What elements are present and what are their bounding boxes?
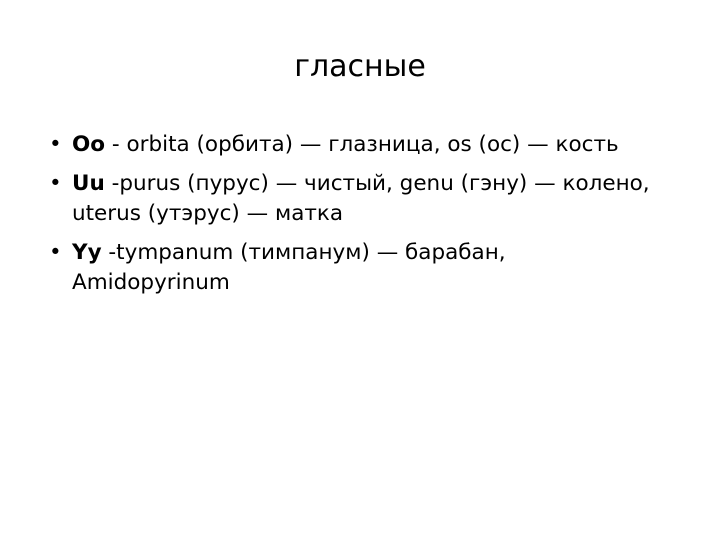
list-item: • Yy -tympanum (тимпанум) — барабан, Ami… <box>42 238 662 298</box>
list-item-lead: Yy <box>72 240 102 265</box>
bullet-icon: • <box>49 238 63 268</box>
bullet-icon: • <box>49 130 63 160</box>
bullet-icon: • <box>49 169 63 199</box>
list-item-lead: Oo <box>72 132 105 157</box>
list-item-text: - orbita (орбита) — глазница, os (ос) — … <box>105 132 619 157</box>
list-item-lead: Uu <box>72 171 105 196</box>
list-item: • Uu -purus (пурус) — чистый, genu (гэну… <box>42 169 662 229</box>
list-item-text: -tympanum (тимпанум) — барабан, Amidopyr… <box>72 240 506 295</box>
page-title: гласные <box>0 49 720 85</box>
vowel-list: • Oo - orbita (орбита) — глазница, os (о… <box>42 130 662 298</box>
list-item-text: -purus (пурус) — чистый, genu (гэну) — к… <box>72 171 650 226</box>
slide: гласные • Oo - orbita (орбита) — глазниц… <box>0 0 720 540</box>
list-item: • Oo - orbita (орбита) — глазница, os (о… <box>42 130 662 160</box>
